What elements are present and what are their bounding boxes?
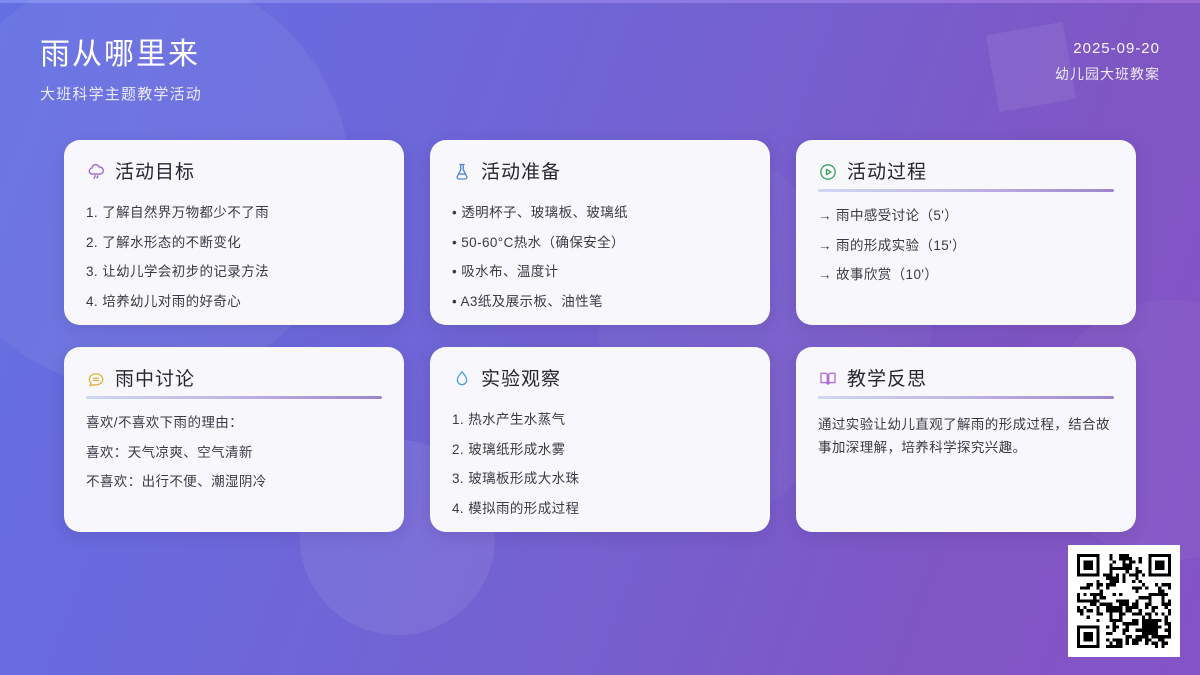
card-line: 1. 了解自然界万物都少不了雨 bbox=[86, 203, 382, 223]
title-block: 雨从哪里来 大班科学主题教学活动 bbox=[40, 36, 202, 104]
card-body: 1. 了解自然界万物都少不了雨2. 了解水形态的不断变化3. 让幼儿学会初步的记… bbox=[86, 203, 382, 311]
qr-code-image bbox=[1077, 554, 1171, 648]
qr-code[interactable] bbox=[1068, 545, 1180, 657]
page-subtitle: 大班科学主题教学活动 bbox=[40, 83, 202, 104]
card-divider bbox=[818, 396, 1114, 399]
card-title: 实验观察 bbox=[481, 370, 561, 389]
cloud-rain-icon bbox=[86, 162, 106, 182]
page-title: 雨从哪里来 bbox=[40, 36, 202, 74]
card-paragraph: 通过实验让幼儿直观了解雨的形成过程，结合故事加深理解，培养科学探究兴趣。 bbox=[818, 413, 1114, 459]
card-line: 2. 了解水形态的不断变化 bbox=[86, 233, 382, 253]
card-line: 3. 让幼儿学会初步的记录方法 bbox=[86, 262, 382, 282]
open-book-icon bbox=[818, 369, 838, 389]
card-line: 喜欢/不喜欢下雨的理由： bbox=[86, 413, 382, 433]
card-line: • 50-60°C热水（确保安全） bbox=[452, 233, 748, 253]
water-drop-icon bbox=[452, 369, 472, 389]
card-activity-preparation: 活动准备• 透明杯子、玻璃板、玻璃纸• 50-60°C热水（确保安全）• 吸水布… bbox=[430, 140, 770, 325]
card-experiment-observation: 实验观察1. 热水产生水蒸气2. 玻璃纸形成水雾3. 玻璃板形成大水珠4. 模拟… bbox=[430, 347, 770, 532]
card-body: • 透明杯子、玻璃板、玻璃纸• 50-60°C热水（确保安全）• 吸水布、温度计… bbox=[452, 203, 748, 311]
card-header: 活动准备 bbox=[452, 162, 748, 189]
card-line: • A3纸及展示板、油性笔 bbox=[452, 292, 748, 312]
card-line: 不喜欢：出行不便、潮湿阴冷 bbox=[86, 472, 382, 492]
card-teaching-reflection: 教学反思通过实验让幼儿直观了解雨的形成过程，结合故事加深理解，培养科学探究兴趣。 bbox=[796, 347, 1136, 532]
document-type-label: 幼儿园大班教案 bbox=[1055, 63, 1160, 85]
card-line: • 吸水布、温度计 bbox=[452, 262, 748, 282]
card-line: 1. 热水产生水蒸气 bbox=[452, 410, 748, 430]
card-line: → 雨中感受讨论（5'） bbox=[818, 206, 1114, 226]
play-circle-icon bbox=[818, 162, 838, 182]
card-divider bbox=[818, 189, 1114, 192]
card-line: → 故事欣赏（10'） bbox=[818, 265, 1114, 285]
card-divider bbox=[86, 396, 382, 399]
card-line: 2. 玻璃纸形成水雾 bbox=[452, 440, 748, 460]
card-activity-goals: 活动目标1. 了解自然界万物都少不了雨2. 了解水形态的不断变化3. 让幼儿学会… bbox=[64, 140, 404, 325]
card-line: 喜欢：天气凉爽、空气清新 bbox=[86, 443, 382, 463]
card-title: 活动准备 bbox=[481, 163, 561, 182]
card-title: 教学反思 bbox=[847, 370, 927, 389]
card-line: → 雨的形成实验（15'） bbox=[818, 236, 1114, 256]
card-body: 喜欢/不喜欢下雨的理由：喜欢：天气凉爽、空气清新不喜欢：出行不便、潮湿阴冷 bbox=[86, 413, 382, 492]
card-body: 通过实验让幼儿直观了解雨的形成过程，结合故事加深理解，培养科学探究兴趣。 bbox=[818, 413, 1114, 459]
card-body: → 雨中感受讨论（5'）→ 雨的形成实验（15'）→ 故事欣赏（10'） bbox=[818, 206, 1114, 285]
card-line: • 透明杯子、玻璃板、玻璃纸 bbox=[452, 203, 748, 223]
date-label: 2025-09-20 bbox=[1055, 38, 1160, 61]
card-title: 雨中讨论 bbox=[115, 370, 195, 389]
card-grid: 活动目标1. 了解自然界万物都少不了雨2. 了解水形态的不断变化3. 让幼儿学会… bbox=[64, 140, 1136, 532]
card-header: 活动目标 bbox=[86, 162, 382, 189]
slide-root: 雨从哪里来 大班科学主题教学活动 2025-09-20 幼儿园大班教案 活动目标… bbox=[0, 0, 1200, 675]
chat-bubble-icon bbox=[86, 369, 106, 389]
card-title: 活动过程 bbox=[847, 163, 927, 182]
card-activity-process: 活动过程→ 雨中感受讨论（5'）→ 雨的形成实验（15'）→ 故事欣赏（10'） bbox=[796, 140, 1136, 325]
header-meta: 2025-09-20 幼儿园大班教案 bbox=[1055, 38, 1160, 85]
card-header: 雨中讨论 bbox=[86, 369, 382, 396]
card-line: 4. 培养幼儿对雨的好奇心 bbox=[86, 292, 382, 312]
card-header: 实验观察 bbox=[452, 369, 748, 396]
flask-icon bbox=[452, 162, 472, 182]
card-header: 教学反思 bbox=[818, 369, 1114, 396]
card-line: 3. 玻璃板形成大水珠 bbox=[452, 469, 748, 489]
card-body: 1. 热水产生水蒸气2. 玻璃纸形成水雾3. 玻璃板形成大水珠4. 模拟雨的形成… bbox=[452, 410, 748, 518]
card-header: 活动过程 bbox=[818, 162, 1114, 189]
card-line: 4. 模拟雨的形成过程 bbox=[452, 499, 748, 519]
card-rain-discussion: 雨中讨论喜欢/不喜欢下雨的理由：喜欢：天气凉爽、空气清新不喜欢：出行不便、潮湿阴… bbox=[64, 347, 404, 532]
card-title: 活动目标 bbox=[115, 163, 195, 182]
slide-header: 雨从哪里来 大班科学主题教学活动 2025-09-20 幼儿园大班教案 bbox=[0, 0, 1200, 125]
